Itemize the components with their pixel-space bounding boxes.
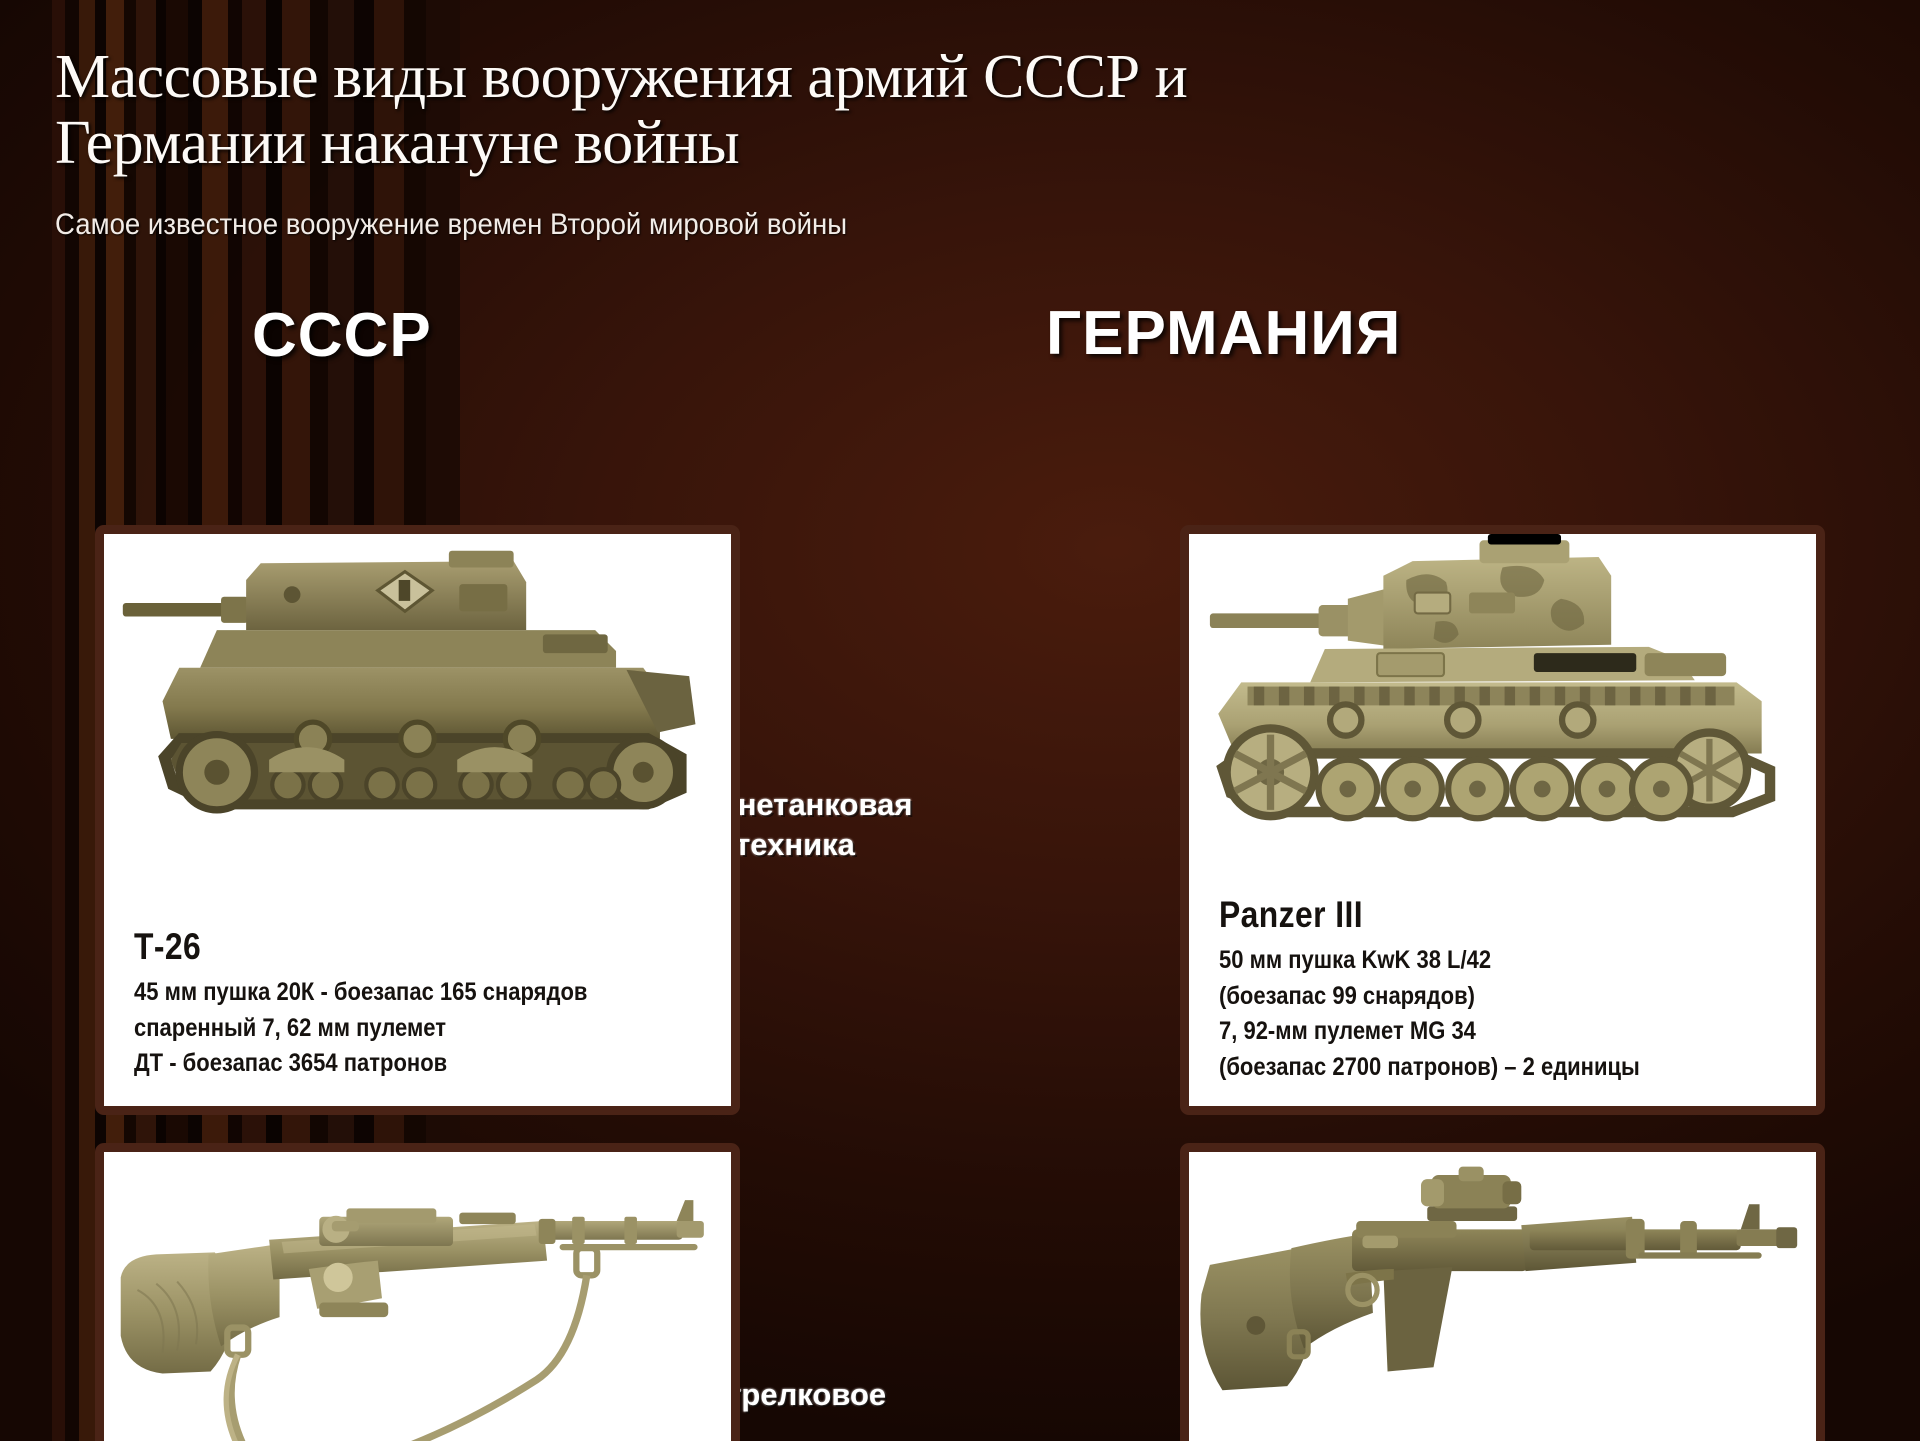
ussr-tank-name: Т-26 xyxy=(134,926,634,968)
column-heading-germany: ГЕРМАНИЯ xyxy=(1046,298,1401,369)
panzer-iii-tank-illustration xyxy=(1189,534,1816,837)
card-germany-rifle xyxy=(1180,1143,1825,1441)
ussr-tank-caption: Т-26 45 мм пушка 20К - боезапас 165 снар… xyxy=(134,926,715,1082)
infographic-root: Массовые виды вооружения армий СССР и Ге… xyxy=(0,0,1920,1441)
ussr-tank-specs: 45 мм пушка 20К - боезапас 165 снарядов … xyxy=(134,975,645,1082)
german-semiauto-rifle-illustration xyxy=(1189,1152,1816,1441)
header: Массовые виды вооружения армий СССР и Ге… xyxy=(55,45,1555,242)
germany-tank-caption: Panzer III 50 мм пушка KwK 38 L/42 (боез… xyxy=(1219,894,1800,1085)
t26-tank-illustration xyxy=(104,534,731,837)
germany-tank-specs: 50 мм пушка KwK 38 L/42 (боезапас 99 сна… xyxy=(1219,943,1730,1085)
card-ussr-rifle xyxy=(95,1143,740,1441)
column-heading-ussr: СССР xyxy=(252,300,432,371)
page-title: Массовые виды вооружения армий СССР и Ге… xyxy=(55,45,1555,176)
card-ussr-tank: Т-26 45 мм пушка 20К - боезапас 165 снар… xyxy=(95,525,740,1115)
germany-tank-name: Panzer III xyxy=(1219,894,1719,936)
mosin-nagant-rifle-illustration xyxy=(104,1152,731,1441)
card-germany-tank: Panzer III 50 мм пушка KwK 38 L/42 (боез… xyxy=(1180,525,1825,1115)
page-subtitle: Самое известное вооружение времен Второй… xyxy=(55,208,1435,242)
